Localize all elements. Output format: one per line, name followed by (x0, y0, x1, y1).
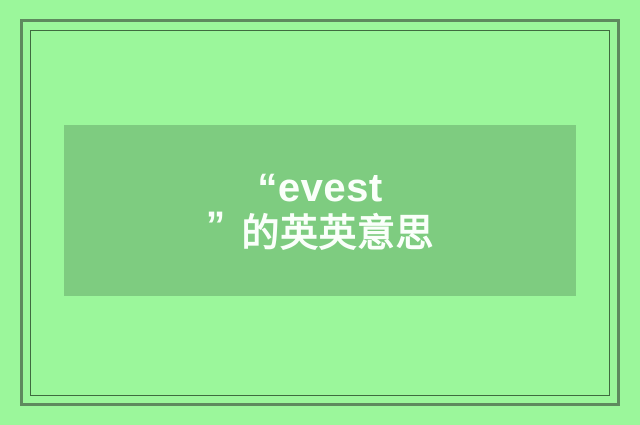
headline-text: “evest ”的英英意思 (206, 166, 434, 255)
headline-suffix: 的英英意思 (241, 213, 434, 255)
poster-canvas: “evest ”的英英意思 (0, 0, 640, 425)
headline-line-2: ”的英英意思 (206, 213, 434, 256)
open-quote-glyph: “ (257, 166, 278, 211)
headline-line-1: “evest (206, 166, 434, 211)
headline-panel: “evest ”的英英意思 (64, 125, 576, 296)
close-quote-glyph: ” (206, 205, 226, 248)
headline-term: evest (278, 166, 383, 210)
